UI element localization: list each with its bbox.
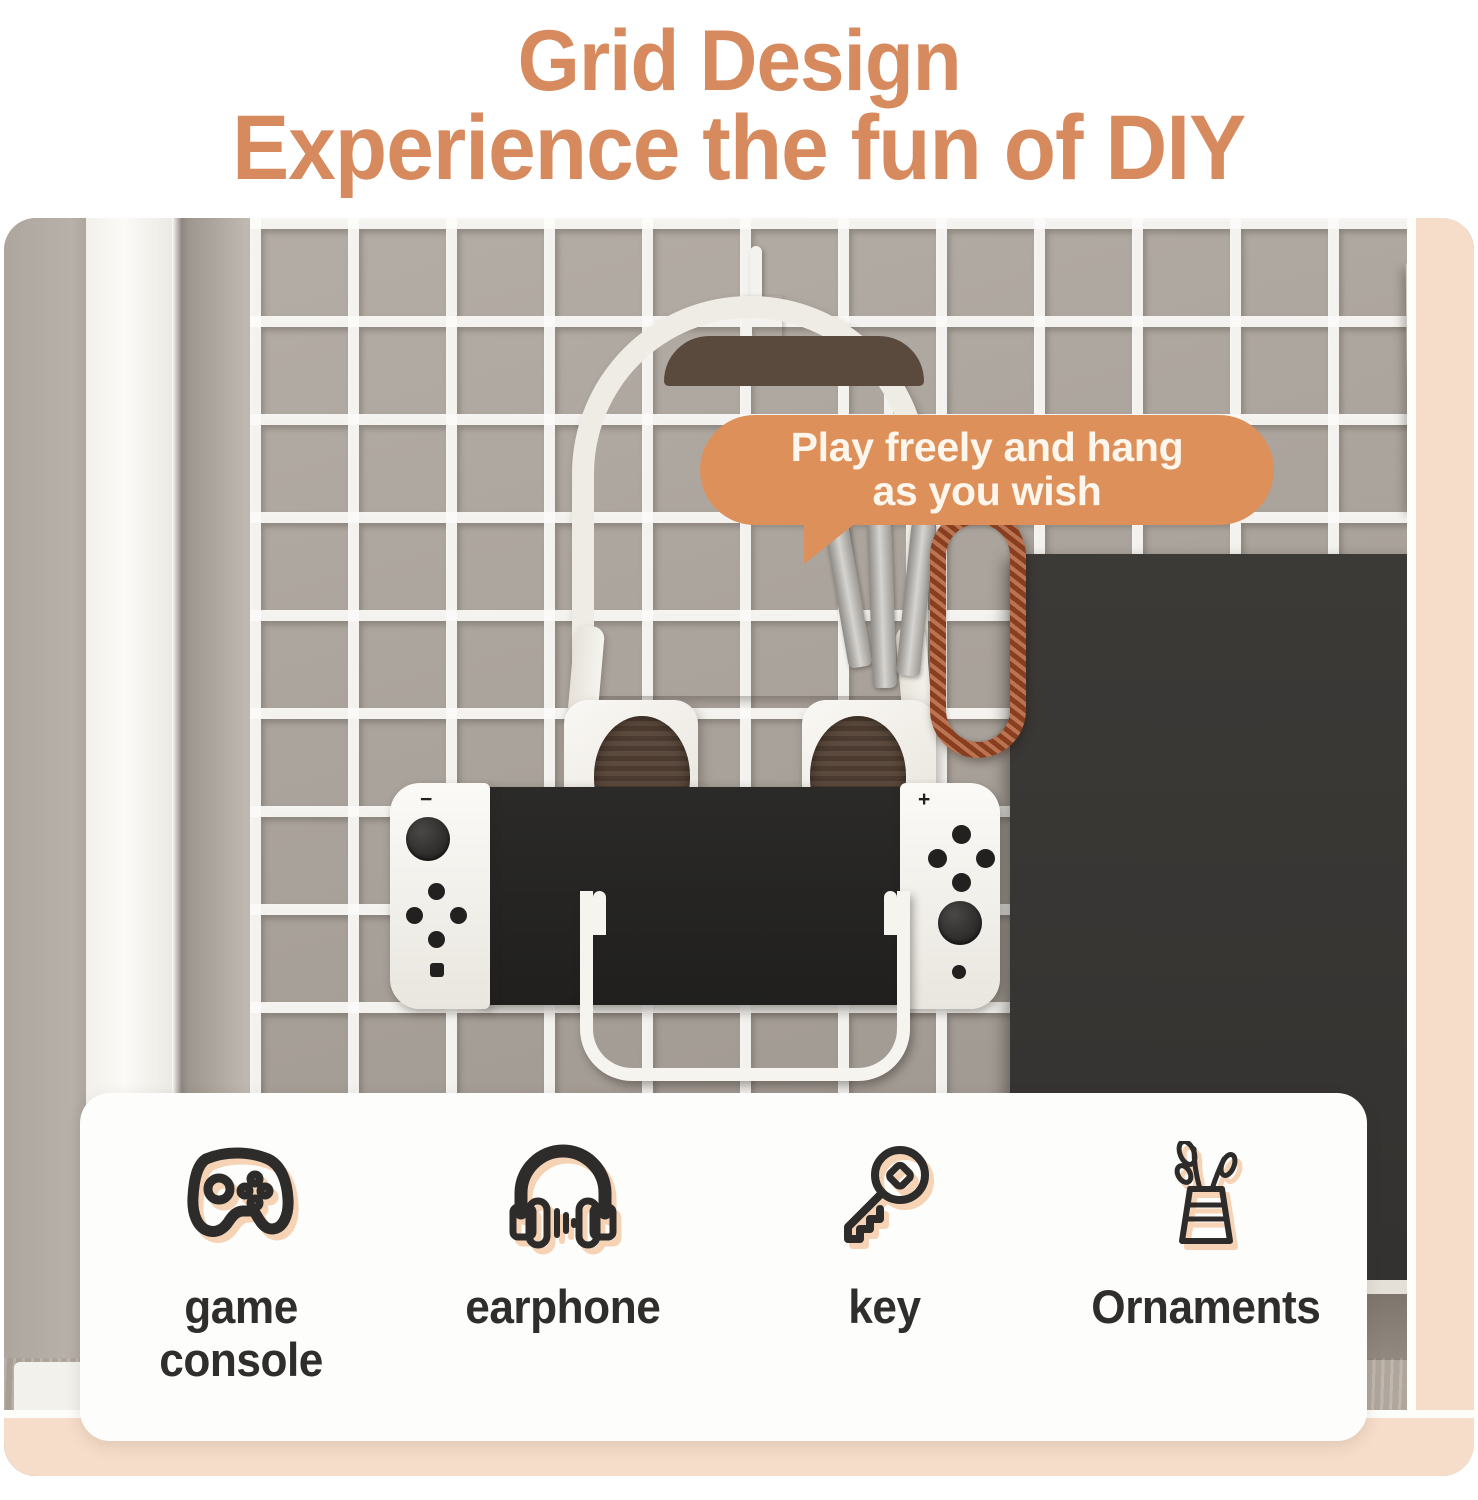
game-controller-icon xyxy=(177,1141,305,1259)
home-button xyxy=(952,965,966,979)
dpad-left-button xyxy=(406,907,423,924)
console-wire-cradle xyxy=(580,891,910,1081)
photo-border-right xyxy=(1416,218,1474,1476)
left-analog-stick xyxy=(406,817,450,861)
plus-button-icon: + xyxy=(918,789,930,810)
headphone-icon xyxy=(499,1141,627,1259)
callout-line-1: Play freely and hang xyxy=(791,426,1184,470)
leather-weave-texture xyxy=(930,508,1026,758)
joycon-left: − xyxy=(390,783,490,1009)
right-analog-stick xyxy=(938,901,982,945)
callout-bubble: Play freely and hang as you wish xyxy=(700,415,1274,525)
leather-keychain-loop xyxy=(930,508,1026,758)
heading-line-2: Experience the fun of DIY xyxy=(232,103,1245,193)
feature-ornaments: Ornaments xyxy=(1045,1093,1367,1334)
callout-line-2: as you wish xyxy=(872,470,1101,514)
feature-key: key xyxy=(724,1093,1046,1334)
feature-label: key xyxy=(848,1281,920,1334)
dpad-right-button xyxy=(450,907,467,924)
b-button xyxy=(952,873,971,892)
capture-button xyxy=(430,963,444,977)
x-button xyxy=(952,825,971,844)
headband-cushion xyxy=(664,336,924,386)
page-heading: Grid Design Experience the fun of DIY xyxy=(0,0,1478,212)
feature-label: earphone xyxy=(465,1281,660,1334)
y-button xyxy=(928,849,947,868)
key-icon xyxy=(820,1141,948,1259)
heading-line-1: Grid Design xyxy=(517,19,960,103)
feature-earphone: earphone xyxy=(402,1093,724,1334)
minus-button-icon: − xyxy=(420,789,432,810)
a-button xyxy=(976,849,995,868)
cradle-prong-right xyxy=(884,891,897,935)
key-blade xyxy=(867,518,897,689)
feature-label: Ornaments xyxy=(1092,1281,1321,1334)
feature-label: gameconsole xyxy=(159,1281,323,1386)
dpad-up-button xyxy=(428,883,445,900)
game-console-unit: − + xyxy=(390,783,1000,1013)
photo-inner-edge-right xyxy=(1407,218,1416,1476)
joycon-right: + xyxy=(900,783,1000,1009)
dpad-down-button xyxy=(428,931,445,948)
feature-card: gameconsole xyxy=(80,1093,1367,1441)
vase-plant-icon xyxy=(1142,1141,1270,1259)
cradle-prong-left xyxy=(593,891,606,935)
feature-game-console: gameconsole xyxy=(80,1093,402,1386)
